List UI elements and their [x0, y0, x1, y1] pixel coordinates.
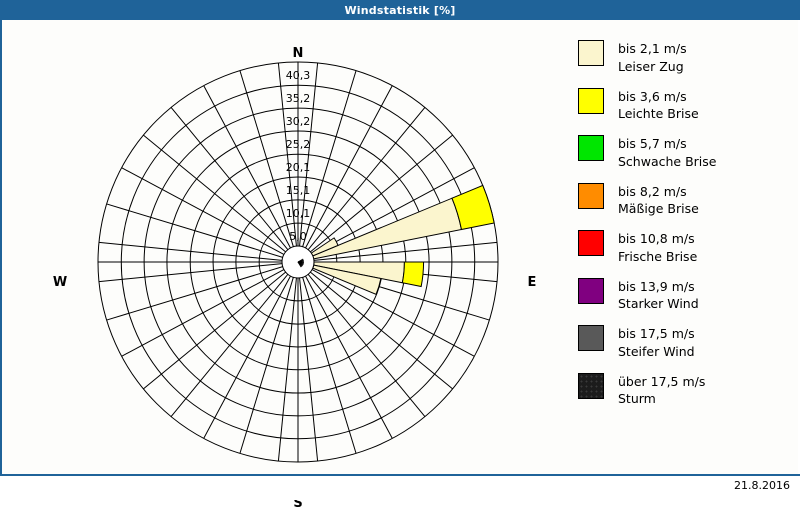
legend-beaufort-name: Starker Wind [618, 295, 699, 313]
legend-label: über 17,5 m/sSturm [618, 373, 705, 409]
window-title: Windstatistik [%] [344, 4, 455, 17]
legend-speed-range: bis 2,1 m/s [618, 40, 687, 58]
legend-speed-range: bis 10,8 m/s [618, 230, 697, 248]
legend-label: bis 3,6 m/sLeichte Brise [618, 88, 699, 124]
legend-beaufort-name: Sturm [618, 390, 705, 408]
speed-legend: bis 2,1 m/sLeiser Zugbis 3,6 m/sLeichte … [578, 40, 793, 420]
legend-label: bis 13,9 m/sStarker Wind [618, 278, 699, 314]
legend-beaufort-name: Mäßige Brise [618, 200, 699, 218]
wind-rose-plot: N S W E 5,010,115,120,125,230,235,240,3 [0, 20, 560, 474]
legend-item[interactable]: bis 8,2 m/sMäßige Brise [578, 183, 793, 219]
legend-speed-range: über 17,5 m/s [618, 373, 705, 391]
legend-color-swatch [578, 88, 604, 114]
wind-statistics-window: Windstatistik [%] N S W E 5,010,115,120,… [0, 0, 800, 500]
legend-speed-range: bis 17,5 m/s [618, 325, 695, 343]
rose-sector-e [402, 262, 423, 286]
legend-item[interactable]: bis 17,5 m/sSteifer Wind [578, 325, 793, 361]
legend-label: bis 17,5 m/sSteifer Wind [618, 325, 695, 361]
legend-label: bis 5,7 m/sSchwache Brise [618, 135, 716, 171]
window-footer: 21.8.2016 [0, 476, 800, 500]
legend-speed-range: bis 3,6 m/s [618, 88, 699, 106]
legend-label: bis 2,1 m/sLeiser Zug [618, 40, 687, 76]
legend-color-swatch [578, 373, 604, 399]
rose-center-hub [282, 246, 314, 278]
legend-label: bis 10,8 m/sFrische Brise [618, 230, 697, 266]
legend-color-swatch [578, 135, 604, 161]
legend-color-swatch [578, 325, 604, 351]
legend-item[interactable]: bis 13,9 m/sStarker Wind [578, 278, 793, 314]
radial-tick-label: 15,1 [275, 184, 321, 197]
legend-color-swatch [578, 40, 604, 66]
radial-tick-label: 20,1 [275, 161, 321, 174]
wind-rose-svg [0, 20, 560, 474]
legend-beaufort-name: Schwache Brise [618, 153, 716, 171]
legend-item[interactable]: bis 3,6 m/sLeichte Brise [578, 88, 793, 124]
legend-beaufort-name: Steifer Wind [618, 343, 695, 361]
rose-sector-ene [313, 198, 462, 259]
legend-item[interactable]: über 17,5 m/sSturm [578, 373, 793, 409]
legend-beaufort-name: Leichte Brise [618, 105, 699, 123]
radial-tick-label: 5,0 [275, 230, 321, 243]
date-label: 21.8.2016 [734, 479, 790, 492]
compass-label-north: N [286, 46, 310, 61]
legend-speed-range: bis 8,2 m/s [618, 183, 699, 201]
compass-label-east: E [520, 275, 544, 290]
legend-speed-range: bis 5,7 m/s [618, 135, 716, 153]
legend-color-swatch [578, 183, 604, 209]
radial-tick-label: 35,2 [275, 92, 321, 105]
legend-speed-range: bis 13,9 m/s [618, 278, 699, 296]
legend-item[interactable]: bis 10,8 m/sFrische Brise [578, 230, 793, 266]
legend-color-swatch [578, 278, 604, 304]
radial-tick-label: 10,1 [275, 207, 321, 220]
legend-beaufort-name: Leiser Zug [618, 58, 687, 76]
radial-tick-label: 40,3 [275, 69, 321, 82]
legend-item[interactable]: bis 2,1 m/sLeiser Zug [578, 40, 793, 76]
radial-tick-label: 25,2 [275, 138, 321, 151]
legend-item[interactable]: bis 5,7 m/sSchwache Brise [578, 135, 793, 171]
window-titlebar: Windstatistik [%] [0, 0, 800, 20]
legend-color-swatch [578, 230, 604, 256]
legend-beaufort-name: Frische Brise [618, 248, 697, 266]
legend-label: bis 8,2 m/sMäßige Brise [618, 183, 699, 219]
compass-label-west: W [48, 275, 72, 290]
radial-tick-label: 30,2 [275, 115, 321, 128]
